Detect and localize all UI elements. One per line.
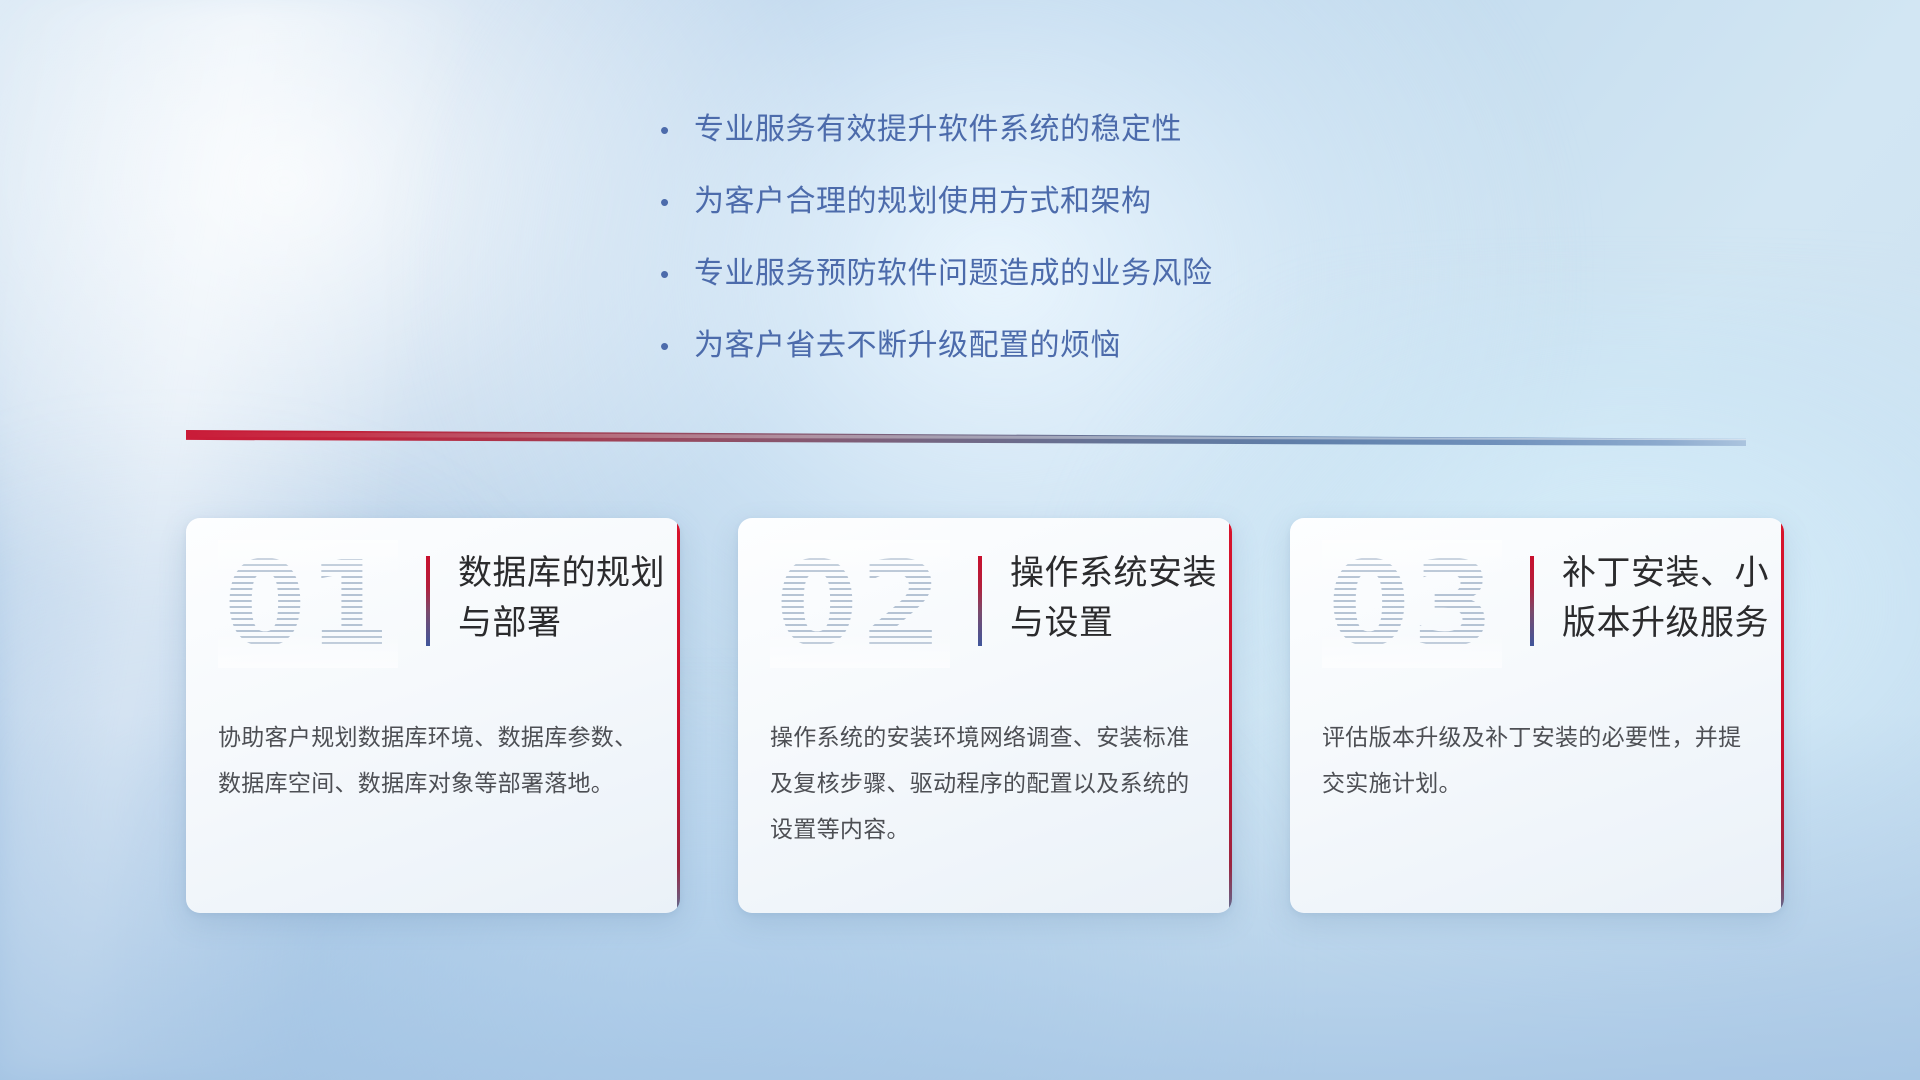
card-header: 01 数据库的规划与部署 (186, 518, 680, 690)
list-item: • 专业服务预防软件问题造成的业务风险 (660, 254, 1420, 294)
bullet-dot-icon: • (660, 254, 694, 294)
card-title-accent-bar (1530, 556, 1534, 646)
list-item: • 为客户合理的规划使用方式和架构 (660, 182, 1420, 222)
service-card[interactable]: 02 操作系统安装与设置 操作系统的安装环境网络调查、安装标准及复核步骤、驱动程… (738, 518, 1232, 913)
card-number-watermark: 01 (218, 540, 398, 668)
card-number-watermark: 03 (1322, 540, 1502, 668)
service-card[interactable]: 03 补丁安装、小版本升级服务 评估版本升级及补丁安装的必要性，并提交实施计划。 (1290, 518, 1784, 913)
bullet-dot-icon: • (660, 326, 694, 366)
card-body-text: 评估版本升级及补丁安装的必要性，并提交实施计划。 (1322, 714, 1756, 806)
card-title-accent-bar (426, 556, 430, 646)
card-body-text: 操作系统的安装环境网络调查、安装标准及复核步骤、驱动程序的配置以及系统的设置等内… (770, 714, 1204, 852)
card-title-accent-bar (978, 556, 982, 646)
service-card[interactable]: 01 数据库的规划与部署 协助客户规划数据库环境、数据库参数、数据库空间、数据库… (186, 518, 680, 913)
bullet-dot-icon: • (660, 182, 694, 222)
card-title: 数据库的规划与部署 (458, 548, 666, 648)
card-header: 03 补丁安装、小版本升级服务 (1290, 518, 1784, 690)
card-header: 02 操作系统安装与设置 (738, 518, 1232, 690)
bullet-text: 为客户合理的规划使用方式和架构 (694, 182, 1152, 222)
card-body-text: 协助客户规划数据库环境、数据库参数、数据库空间、数据库对象等部署落地。 (218, 714, 652, 806)
card-title: 操作系统安装与设置 (1010, 548, 1218, 648)
list-item: • 专业服务有效提升软件系统的稳定性 (660, 110, 1420, 150)
benefits-bullet-list: • 专业服务有效提升软件系统的稳定性 • 为客户合理的规划使用方式和架构 • 专… (660, 110, 1420, 398)
section-divider (186, 430, 1746, 448)
bullet-text: 专业服务有效提升软件系统的稳定性 (694, 110, 1182, 150)
service-card-list: 01 数据库的规划与部署 协助客户规划数据库环境、数据库参数、数据库空间、数据库… (186, 518, 1784, 913)
list-item: • 为客户省去不断升级配置的烦恼 (660, 326, 1420, 366)
bullet-text: 专业服务预防软件问题造成的业务风险 (694, 254, 1213, 294)
card-title: 补丁安装、小版本升级服务 (1562, 548, 1770, 648)
card-number-watermark: 02 (770, 540, 950, 668)
bullet-dot-icon: • (660, 110, 694, 150)
bullet-text: 为客户省去不断升级配置的烦恼 (694, 326, 1121, 366)
